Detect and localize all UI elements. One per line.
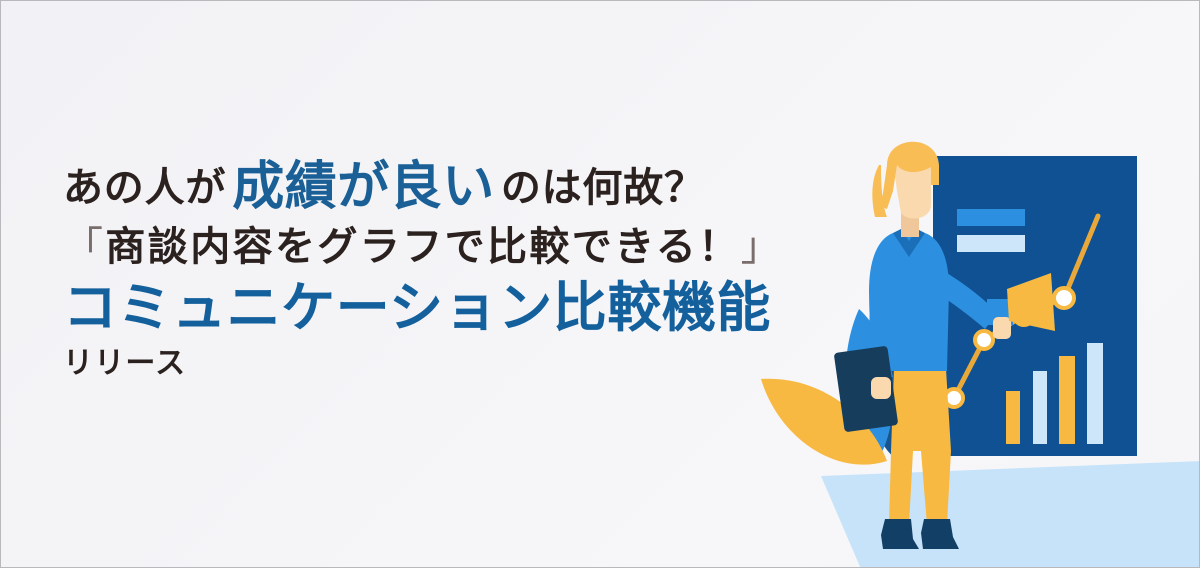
headline-block: あの人が成績が良いのは何故？ 「商談内容をグラフで比較できる！」 コミュニケーシ… [63,161,823,379]
bar-2 [1033,371,1047,444]
open-bracket: 「 [63,225,105,269]
headline-line1-highlight: 成績が良い [232,158,495,216]
line-marker [1054,288,1074,308]
board-row-pale [957,235,1025,252]
line-marker [975,331,993,349]
bar-1 [1006,391,1020,444]
illustration [741,121,1200,568]
headline-line-4: リリース [63,349,823,379]
headline-line1-prefix: あの人が [63,166,226,210]
floor-shape [821,461,1200,568]
headline-line-3: コミュニケーション比較機能 [63,281,823,335]
headline-line1-suffix: のは何故？ [501,166,705,210]
board-row-bright [957,209,1025,226]
headline-line-1: あの人が成績が良いのは何故？ [63,161,823,213]
hand-right [993,317,1011,339]
bar-3 [1059,356,1075,444]
hand-left [871,377,891,399]
bar-4 [1087,343,1103,444]
promo-banner: あの人が成績が良いのは何故？ 「商談内容をグラフで比較できる！」 コミュニケーシ… [0,0,1200,568]
headline-line2-text: 商談内容をグラフで比較できる！ [105,225,740,269]
headline-line-2: 「商談内容をグラフで比較できる！」 [63,227,823,267]
